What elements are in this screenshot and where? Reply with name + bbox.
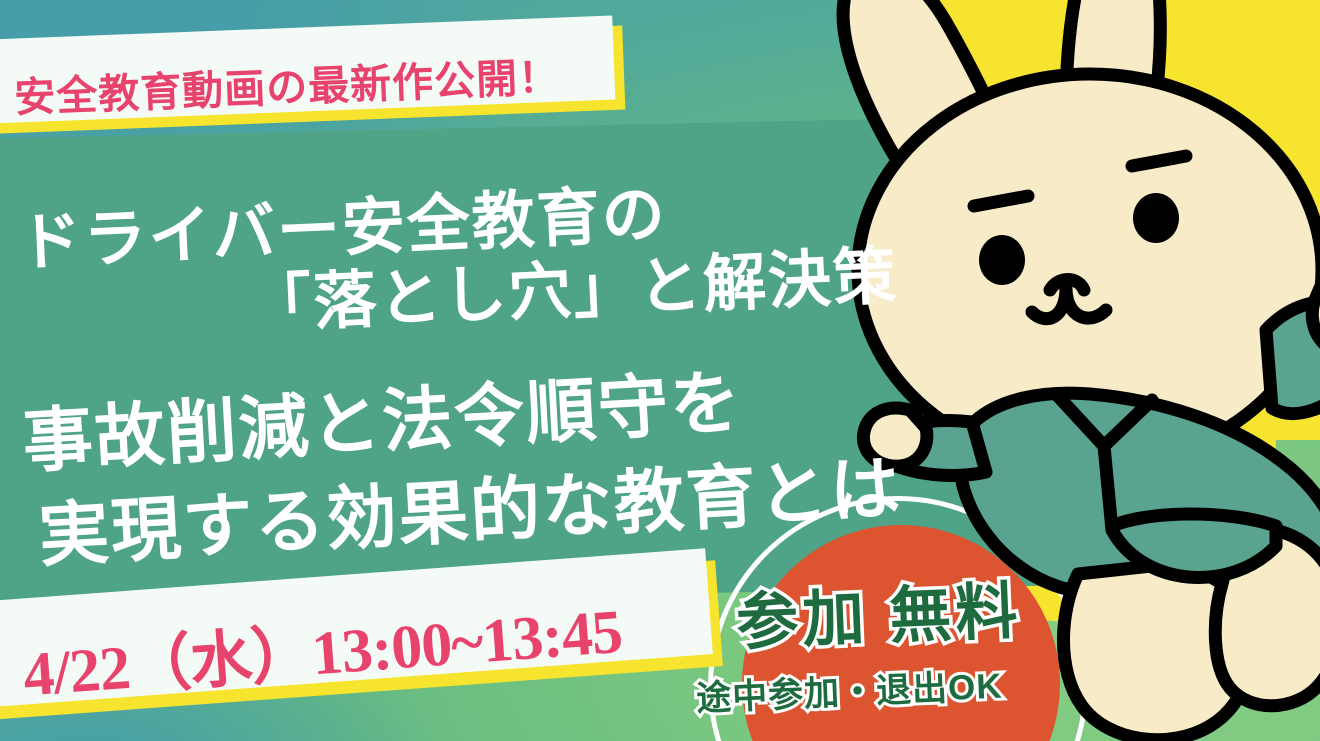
free-badge-title: 参加 無料 (734, 560, 1023, 662)
promo-banner: 安全教育動画の最新作公開！ ドライバー安全教育の 「落とし穴」と解決策 事故削減… (0, 0, 1320, 741)
